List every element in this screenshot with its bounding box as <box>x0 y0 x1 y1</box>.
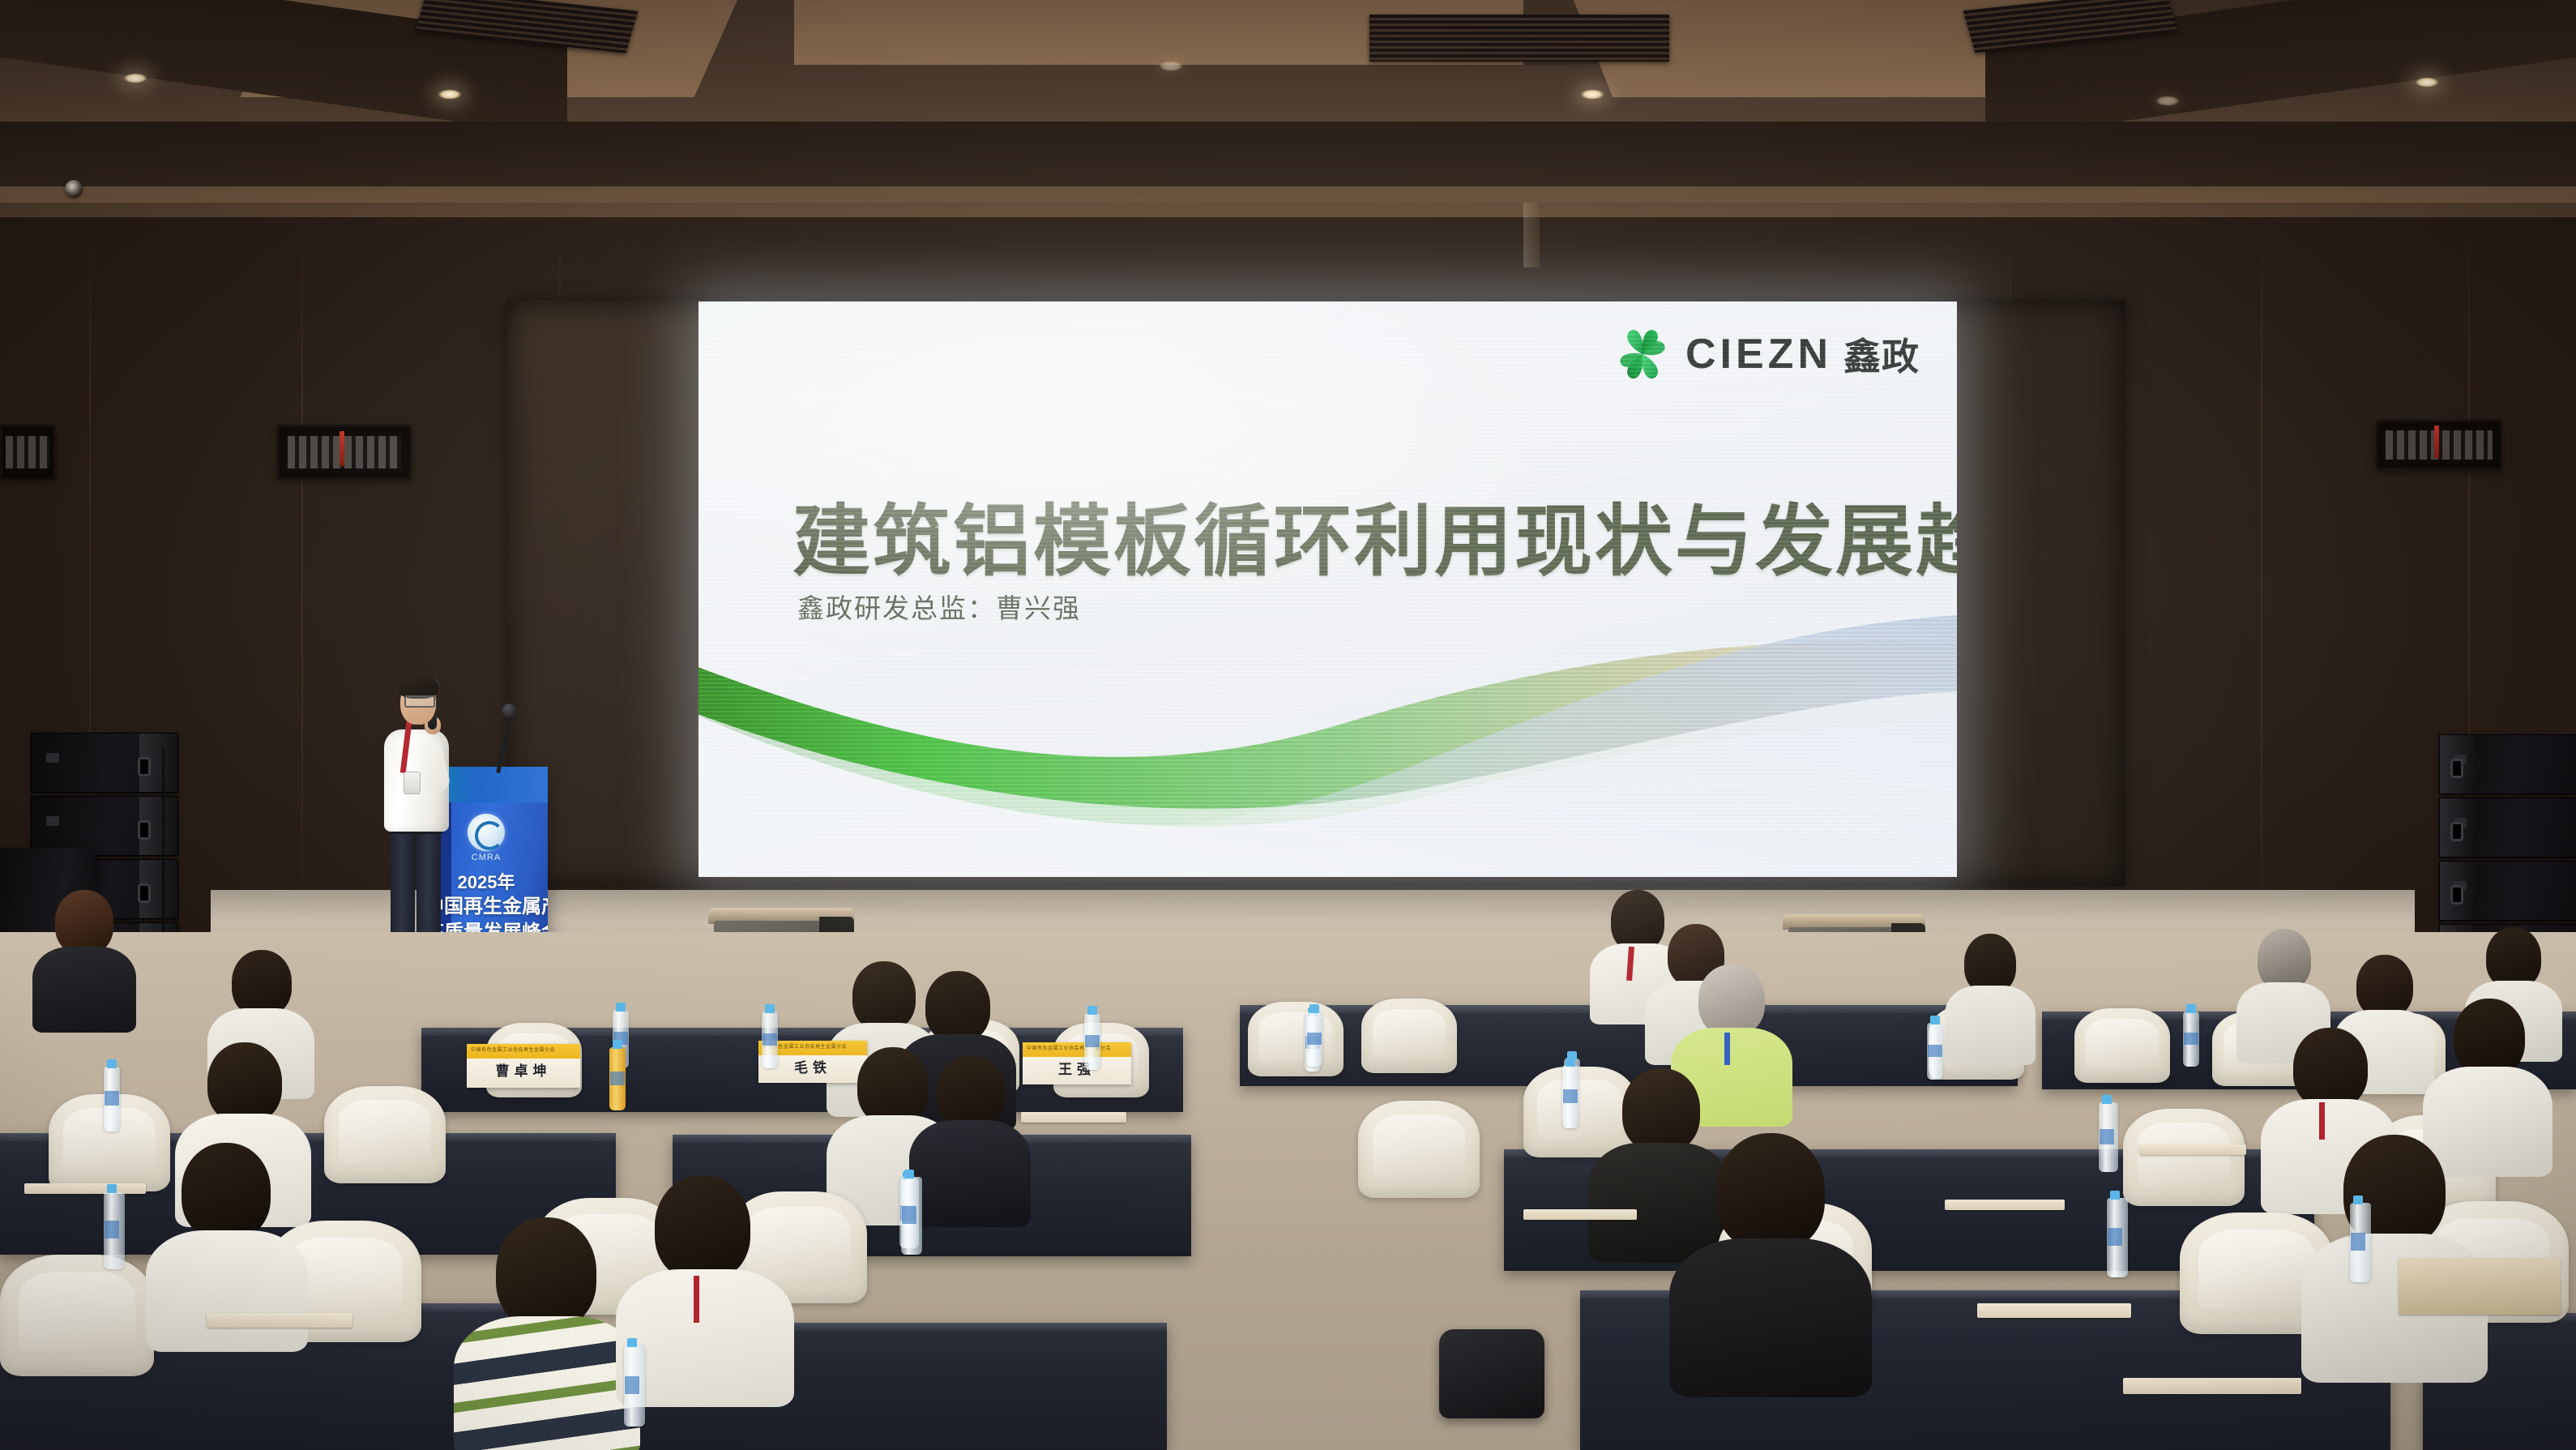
water-bottle <box>2183 1012 2199 1067</box>
attendee <box>909 1055 1031 1225</box>
ceiling-downlight <box>2155 96 2180 106</box>
ceiling-downlight <box>438 89 462 100</box>
ceiling-downlight <box>123 73 147 83</box>
placard-name-text: 王强 <box>1023 1058 1131 1078</box>
notepad <box>2139 1144 2246 1155</box>
attendee <box>1945 934 2036 1060</box>
ceiling <box>0 0 2576 217</box>
chair <box>1358 1101 1480 1198</box>
logo-wordmark-chinese: 鑫政 <box>1843 327 1920 381</box>
presenter <box>371 671 476 975</box>
wall-camera-icon <box>65 180 83 198</box>
conference-hall-photo: CIEZN 鑫政 建筑铝模板循环利用现状与发展趋势 鑫政研发总监：曹兴强 <box>0 0 2576 1450</box>
water-bottle <box>2099 1102 2118 1172</box>
presenter-badge <box>404 772 421 794</box>
ciezn-pinwheel-logo-icon <box>1613 324 1672 384</box>
chair <box>1361 999 1457 1073</box>
placard-name-text: 曹卓坤 <box>467 1059 580 1080</box>
notepad <box>24 1183 146 1194</box>
logo-wordmark-latin: CIEZN <box>1685 330 1832 379</box>
ceiling-downlight <box>1580 89 1604 100</box>
attendee <box>32 890 136 1029</box>
wall-niche-left-outer <box>0 425 55 480</box>
chair <box>2074 1008 2170 1083</box>
led-presentation-screen[interactable]: CIEZN 鑫政 建筑铝模板循环利用现状与发展趋势 鑫政研发总监：曹兴强 <box>698 302 1957 877</box>
notepad <box>2123 1378 2301 1394</box>
attendee <box>1669 1133 1872 1392</box>
notepad <box>207 1313 352 1328</box>
hvac-grille <box>1369 15 1669 62</box>
notepad <box>1523 1209 1637 1220</box>
juice-bottle <box>609 1047 626 1110</box>
attendee <box>2301 1135 2488 1378</box>
folder <box>2399 1258 2561 1315</box>
name-placard: 中国有色金属工业协会再生金属分会 王强 <box>1023 1042 1131 1084</box>
chair <box>324 1086 446 1183</box>
slide-wave-graphic <box>698 601 1957 877</box>
water-bottle <box>901 1177 922 1255</box>
notepad <box>1945 1200 2065 1210</box>
water-bottle <box>1927 1023 1943 1080</box>
presenter-glasses <box>404 695 435 708</box>
water-bottle <box>1306 1012 1322 1067</box>
wall-niche-right <box>2376 420 2502 470</box>
water-bottle <box>762 1012 778 1068</box>
water-bottle <box>2107 1198 2128 1277</box>
podium-microphone-head <box>502 704 516 717</box>
chair <box>0 1255 154 1376</box>
water-bottle <box>624 1345 645 1426</box>
placard-org-text: 中国有色金属工业协会再生金属分会 <box>467 1044 580 1053</box>
bag <box>1439 1329 1544 1418</box>
water-bottle <box>1562 1065 1578 1128</box>
name-placard: 中国有色金属工业协会再生金属分会 曹卓坤 <box>467 1044 580 1088</box>
water-bottle <box>104 1067 120 1131</box>
ceiling-downlight <box>2415 77 2439 88</box>
placard-org-text: 中国有色金属工业协会再生金属分会 <box>1023 1042 1131 1051</box>
ceiling-downlight <box>1159 61 1183 71</box>
slide-logo-wordmark: CIEZN 鑫政 <box>1685 327 1920 381</box>
water-bottle <box>104 1191 125 1269</box>
water-bottle <box>2350 1203 2371 1282</box>
wall-niche-left <box>277 425 412 480</box>
chair <box>2123 1109 2245 1206</box>
slide-logo: CIEZN 鑫政 <box>1613 324 1920 384</box>
water-bottle <box>1084 1013 1100 1070</box>
chair <box>1248 1002 1344 1076</box>
slide-title: 建筑铝模板循环利用现状与发展趋势 <box>792 478 1957 591</box>
notepad <box>1021 1112 1126 1123</box>
attendee <box>454 1217 640 1450</box>
notepad <box>1977 1303 2131 1318</box>
